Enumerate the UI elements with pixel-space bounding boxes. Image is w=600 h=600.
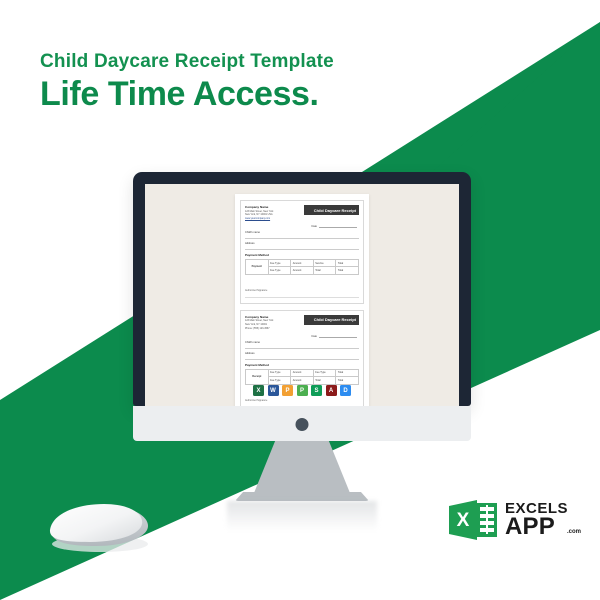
headline-subtitle: Child Daycare Receipt Template	[40, 52, 334, 73]
table-cell: Fee Type	[268, 377, 291, 384]
monitor-chin	[133, 406, 471, 441]
signature-label: Authorized Signature	[245, 399, 267, 402]
brand-logo[interactable]: X EXCELS APP.com	[447, 497, 568, 543]
table-row: Receipt Fee Type Amount Fee Type Total	[246, 369, 359, 376]
imac-mockup: Company Name 123 Main Street, New York N…	[133, 172, 471, 531]
child-name-field[interactable]: Child's name	[245, 231, 359, 239]
magic-mouse	[44, 498, 154, 556]
date-rule	[319, 334, 357, 338]
monitor-stand-foot	[235, 492, 369, 501]
company-website-link[interactable]: www.yourcompany.com	[245, 217, 304, 221]
headline-title: Life Time Access.	[40, 77, 334, 113]
docs-icon[interactable]: D	[340, 385, 351, 396]
table-cell: Total	[336, 260, 359, 267]
apple-logo-dot	[296, 418, 309, 431]
receipt-footer: Authorized Signature	[245, 278, 359, 298]
company-block: Company Name 123 Main Street, New York N…	[245, 205, 304, 221]
table-cell: Fee Type	[268, 369, 291, 376]
signature-label: Authorized Signature	[245, 289, 267, 292]
sheets-icon[interactable]: S	[311, 385, 322, 396]
receipt-title-badge: Child Daycare Receipt	[304, 315, 359, 325]
table-cell: Receipt	[246, 369, 269, 384]
table-cell: Fee Type	[268, 260, 291, 267]
receipt-card[interactable]: Company Name 123 Main Street, New York N…	[240, 200, 364, 304]
monitor-stand-neck	[254, 441, 350, 493]
table-cell: Payment	[246, 260, 269, 275]
field-rule	[245, 246, 359, 250]
monitor-reflection	[227, 501, 377, 531]
section-title: Payment Method	[245, 253, 359, 257]
address-field[interactable]: Address	[245, 352, 359, 360]
brand-tld: .com	[567, 530, 581, 536]
date-label: Date	[312, 335, 317, 338]
brand-line-2-text: APP	[505, 513, 555, 540]
table-cell: Amount	[291, 369, 314, 376]
receipt-header: Company Name 123 Main Street, New York N…	[245, 205, 359, 221]
table-cell: Total	[336, 267, 359, 274]
excel-logo-mark: X	[447, 497, 499, 543]
field-rule	[245, 345, 359, 349]
payment-table: Payment Fee Type Amount Service Total Fe…	[245, 259, 359, 275]
date-rule	[319, 224, 357, 228]
table-cell: Total	[313, 267, 336, 274]
format-icon-row: X W P P S A D	[253, 385, 351, 396]
table-cell: Total	[336, 377, 359, 384]
child-name-field[interactable]: Child's name	[245, 341, 359, 349]
table-cell: Service	[313, 260, 336, 267]
table-row: Payment Fee Type Amount Service Total	[246, 260, 359, 267]
receipt-header: Company Name 123 Main Street, New York N…	[245, 315, 359, 331]
excel-icon[interactable]: X	[253, 385, 264, 396]
document-preview[interactable]: Company Name 123 Main Street, New York N…	[235, 194, 369, 406]
receipt-title-badge: Child Daycare Receipt	[304, 205, 359, 215]
word-icon[interactable]: W	[268, 385, 279, 396]
receipt-date-row: Date	[245, 334, 359, 338]
logo-x-letter: X	[457, 510, 470, 531]
table-cell: Amount	[291, 260, 314, 267]
date-label: Date	[312, 225, 317, 228]
table-cell: Total	[313, 377, 336, 384]
payment-table: Receipt Fee Type Amount Fee Type Total F…	[245, 369, 359, 385]
table-cell: Amount	[291, 377, 314, 384]
powerpoint-icon[interactable]: P	[297, 385, 308, 396]
field-rule	[245, 356, 359, 360]
section-title: Payment Method	[245, 363, 359, 367]
receipt-date-row: Date	[245, 224, 359, 228]
brand-wordmark: EXCELS APP.com	[505, 502, 568, 538]
monitor-bezel: Company Name 123 Main Street, New York N…	[133, 172, 471, 406]
table-cell: Total	[336, 369, 359, 376]
headline-block: Child Daycare Receipt Template Life Time…	[40, 52, 334, 113]
table-cell: Fee Type	[268, 267, 291, 274]
poster-canvas: Child Daycare Receipt Template Life Time…	[0, 0, 600, 600]
publisher-icon[interactable]: P	[282, 385, 293, 396]
address-field[interactable]: Address	[245, 242, 359, 250]
monitor-screen: Company Name 123 Main Street, New York N…	[145, 184, 459, 406]
brand-line-2: APP.com	[505, 516, 568, 538]
company-block: Company Name 123 Main Street, New York N…	[245, 315, 304, 331]
company-phone-line: Phone: (555) 123-4567	[245, 327, 304, 331]
table-cell: Amount	[291, 267, 314, 274]
field-rule	[245, 235, 359, 239]
pdf-icon[interactable]: A	[326, 385, 337, 396]
table-cell: Fee Type	[313, 369, 336, 376]
